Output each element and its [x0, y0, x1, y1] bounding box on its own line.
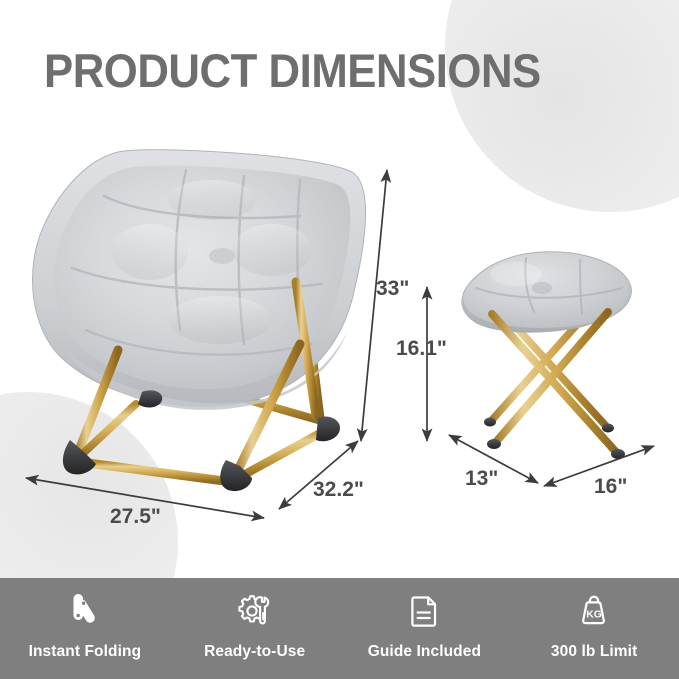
feature-weight-limit: KG 300 lb Limit — [514, 588, 674, 661]
feature-guide-included: Guide Included — [344, 588, 504, 661]
document-icon — [403, 588, 445, 634]
dimension-label-chair-depth: 32.2" — [313, 478, 364, 502]
arrow-chair-height — [361, 170, 387, 441]
dimension-label-stool-width: 16" — [594, 475, 627, 499]
feature-label: Guide Included — [368, 643, 481, 661]
weight-icon-unit-text: KG — [586, 609, 602, 620]
feature-instant-folding: Instant Folding — [5, 588, 165, 661]
folding-knife-icon — [64, 588, 106, 634]
dimension-label-stool-depth: 13" — [465, 467, 498, 491]
dimension-label-chair-width: 27.5" — [110, 505, 161, 529]
dimension-label-chair-height: 33" — [376, 277, 409, 301]
feature-label: 300 lb Limit — [551, 643, 637, 661]
feature-label: Instant Folding — [29, 643, 142, 661]
product-dimensions-infographic: PRODUCT DIMENSIONS — [0, 0, 679, 679]
weight-kg-icon: KG — [573, 588, 615, 634]
product-illustration-stage: 33" 27.5" 32.2" 16.1" 13" 16" — [0, 0, 679, 578]
feature-ready-to-use: Ready-to-Use — [175, 588, 335, 661]
feature-label: Ready-to-Use — [204, 643, 305, 661]
feature-bar: Instant Folding Ready-to-Use — [0, 578, 679, 679]
gear-wrench-icon — [234, 588, 276, 634]
dimension-label-stool-height: 16.1" — [396, 337, 447, 361]
